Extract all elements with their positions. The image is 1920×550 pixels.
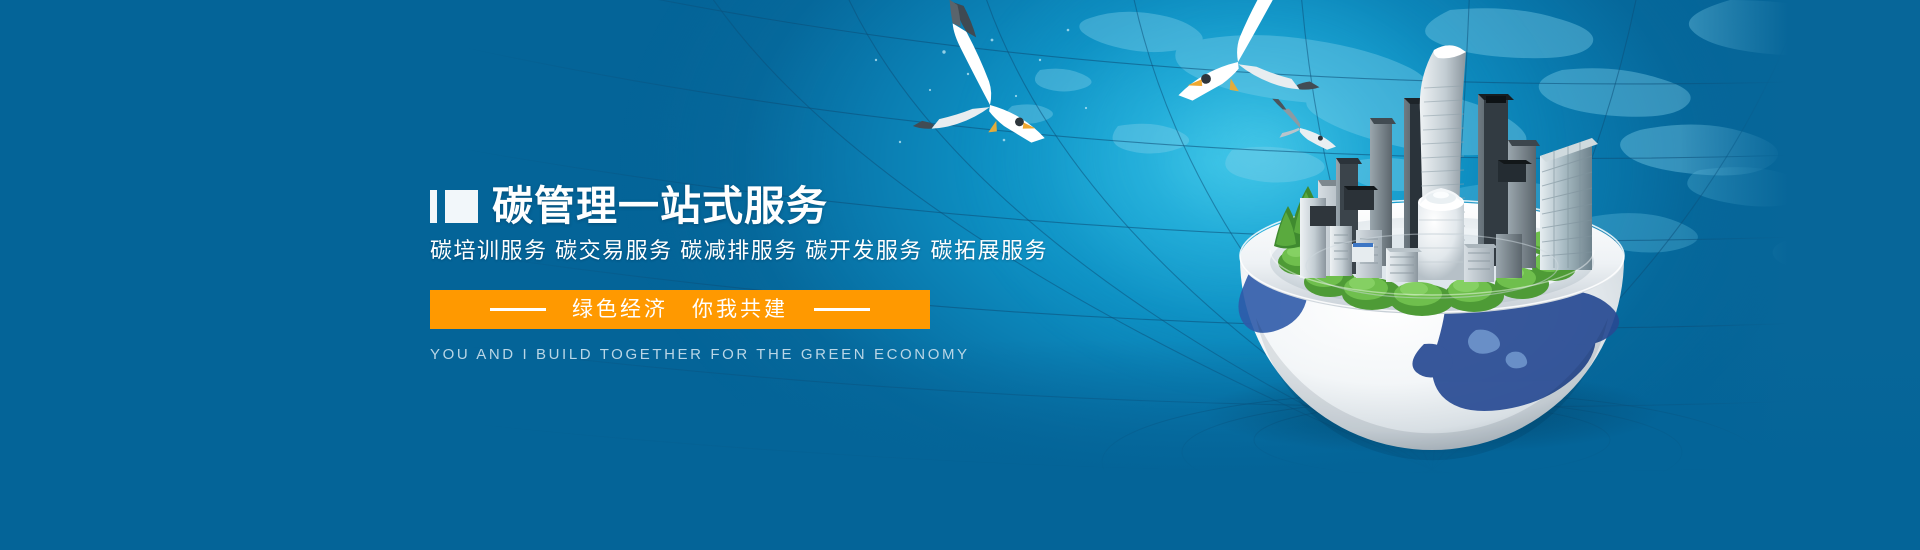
slogan-badge: 绿色经济 你我共建 xyxy=(430,290,930,329)
bar-square-icon xyxy=(430,190,478,223)
hero-banner: 碳管理一站式服务 碳培训服务 碳交易服务 碳减排服务 碳开发服务 碳拓展服务 绿… xyxy=(0,0,1920,550)
service-list: 碳培训服务 碳交易服务 碳减排服务 碳开发服务 碳拓展服务 xyxy=(430,239,1050,263)
slogan-english: YOU AND I BUILD TOGETHER FOR THE GREEN E… xyxy=(430,346,1050,363)
slogan-text: 绿色经济 你我共建 xyxy=(572,299,788,320)
page-title: 碳管理一站式服务 xyxy=(492,186,828,227)
title-row: 碳管理一站式服务 xyxy=(430,186,1050,226)
rule-left-icon xyxy=(490,308,546,311)
hero-copy: 碳管理一站式服务 碳培训服务 碳交易服务 碳减排服务 碳开发服务 碳拓展服务 绿… xyxy=(430,186,1050,363)
rule-right-icon xyxy=(814,308,870,311)
